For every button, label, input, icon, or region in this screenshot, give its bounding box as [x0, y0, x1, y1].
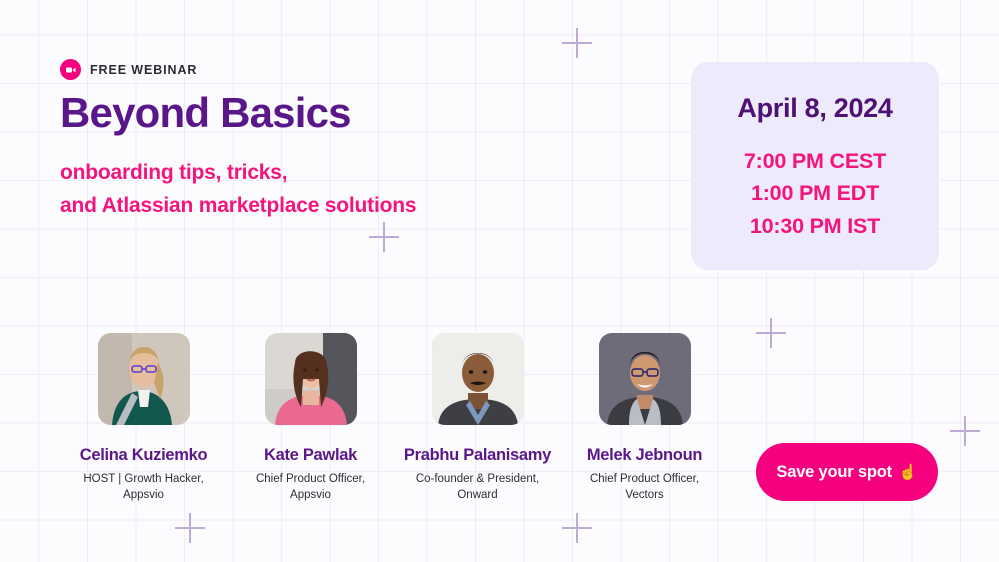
grid-cross-mark [562, 513, 592, 543]
free-webinar-badge: FREE WEBINAR [60, 59, 197, 80]
video-camera-icon [60, 59, 81, 80]
speaker-name: Celina Kuziemko [80, 446, 208, 465]
avatar [265, 333, 357, 425]
speaker-name: Melek Jebnoun [587, 446, 702, 465]
speaker-role-line-2: Appsvio [256, 488, 365, 504]
grid-cross-mark [175, 513, 205, 543]
speaker-role-line-1: Co-founder & President, [416, 472, 539, 488]
speaker-role-line-2: Vectors [590, 488, 699, 504]
pointing-up-hand-icon: ☝️ [899, 465, 918, 480]
speaker-list: Celina Kuziemko HOST | Growth Hacker, Ap… [60, 333, 728, 504]
speaker-name: Prabhu Palanisamy [404, 446, 551, 465]
cta-label: Save your spot [776, 463, 892, 482]
avatar [599, 333, 691, 425]
speaker-role-line-2: Onward [416, 488, 539, 504]
speaker-role-line-1: Chief Product Officer, [590, 472, 699, 488]
webinar-poster: FREE WEBINAR Beyond Basics onboarding ti… [0, 0, 999, 562]
event-date: April 8, 2024 [737, 93, 892, 124]
speaker-card: Melek Jebnoun Chief Product Officer, Vec… [561, 333, 728, 504]
speaker-role-line-1: HOST | Growth Hacker, [83, 472, 203, 488]
avatar [432, 333, 524, 425]
grid-cross-mark [562, 28, 592, 58]
badge-label: FREE WEBINAR [90, 63, 197, 77]
speaker-card: Celina Kuziemko HOST | Growth Hacker, Ap… [60, 333, 227, 504]
event-times: 7:00 PM CEST 1:00 PM EDT 10:30 PM IST [744, 145, 886, 242]
save-your-spot-button[interactable]: Save your spot ☝️ [756, 443, 938, 501]
event-time-ist: 10:30 PM IST [744, 210, 886, 242]
speaker-role-line-1: Chief Product Officer, [256, 472, 365, 488]
date-card: April 8, 2024 7:00 PM CEST 1:00 PM EDT 1… [691, 62, 939, 270]
speaker-role-line-2: Appsvio [83, 488, 203, 504]
grid-cross-mark [369, 222, 399, 252]
grid-cross-mark [756, 318, 786, 348]
speaker-card: Prabhu Palanisamy Co-founder & President… [394, 333, 561, 504]
speaker-name: Kate Pawlak [264, 446, 357, 465]
avatar [98, 333, 190, 425]
speaker-role: Co-founder & President, Onward [416, 472, 539, 504]
speaker-role: HOST | Growth Hacker, Appsvio [83, 472, 203, 504]
grid-cross-mark [950, 416, 980, 446]
page-title: Beyond Basics [60, 90, 351, 136]
speaker-role: Chief Product Officer, Appsvio [256, 472, 365, 504]
page-subtitle: onboarding tips, tricks, and Atlassian m… [60, 156, 416, 222]
speaker-role: Chief Product Officer, Vectors [590, 472, 699, 504]
speaker-card: Kate Pawlak Chief Product Officer, Appsv… [227, 333, 394, 504]
subtitle-line-2: and Atlassian marketplace solutions [60, 189, 416, 222]
event-time-edt: 1:00 PM EDT [744, 177, 886, 209]
subtitle-line-1: onboarding tips, tricks, [60, 156, 416, 189]
event-time-cest: 7:00 PM CEST [744, 145, 886, 177]
